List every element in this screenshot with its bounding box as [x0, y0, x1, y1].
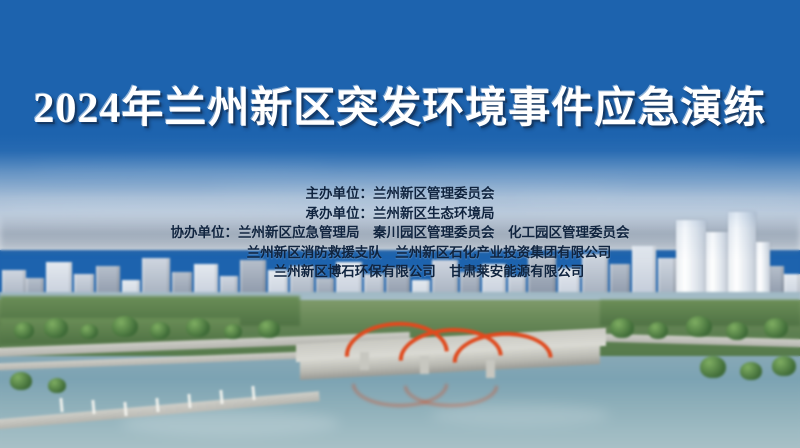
host-unit-line: 主办单位：兰州新区管理委员会 [0, 184, 800, 204]
cloud [30, 150, 330, 176]
coorganizer-unit-line-2: 兰州新区消防救援支队 兰州新区石化产业投资集团有限公司 [0, 243, 800, 263]
coorganizer-unit-line: 协办单位：兰州新区应急管理局 秦川园区管理委员会 化工园区管理委员会 [0, 223, 800, 243]
organizer-block: 主办单位：兰州新区管理委员会 承办单位：兰州新区生态环境局 协办单位：兰州新区应… [0, 184, 800, 282]
page-title: 2024年兰州新区突发环境事件应急演练 [0, 74, 800, 135]
poster-banner: 2024年兰州新区突发环境事件应急演练 主办单位：兰州新区管理委员会 承办单位：… [0, 0, 800, 448]
organizer-unit-line: 承办单位：兰州新区生态环境局 [0, 204, 800, 224]
cloud [420, 140, 750, 170]
coorganizer-unit-line-3: 兰州新区博石环保有限公司 甘肃莱安能源有限公司 [0, 262, 800, 282]
